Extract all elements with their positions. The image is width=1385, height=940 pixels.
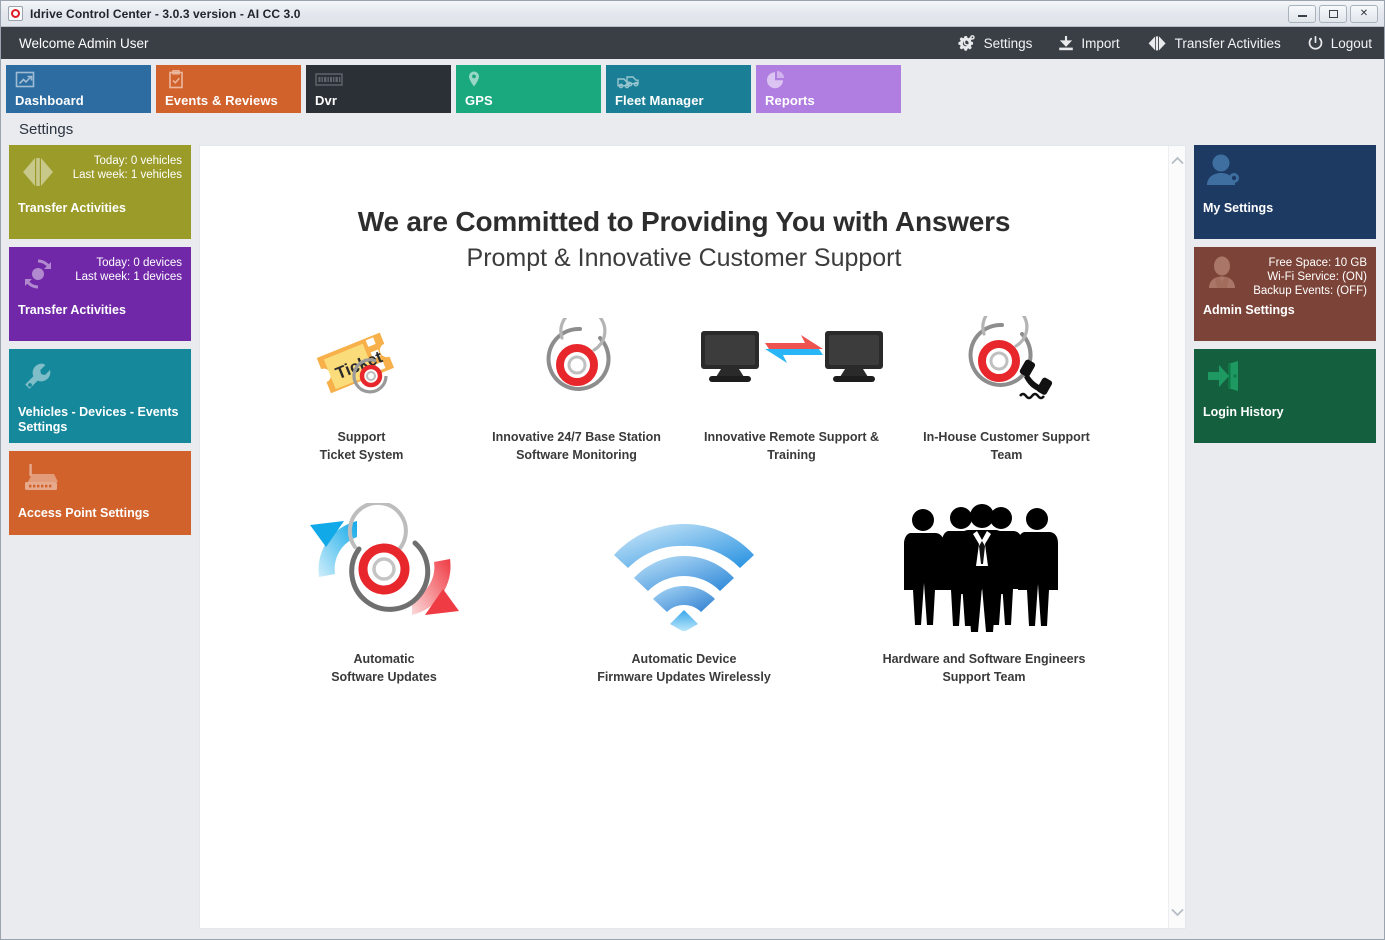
menu-item-import[interactable]: Import: [1058, 35, 1119, 52]
scroll-down-icon[interactable]: [1171, 904, 1184, 922]
menu-item-label: Logout: [1331, 36, 1372, 51]
tile-stats: Free Space: 10 GB Wi-Fi Service: (ON) Ba…: [1253, 254, 1367, 298]
feature-caption: In-House Customer Support Team: [923, 428, 1090, 464]
feature-in-house-support-team: In-House Customer Support Team: [899, 311, 1114, 464]
main-content: We are Committed to Providing You with A…: [200, 146, 1168, 928]
support-ticket-icon: Ticket: [309, 311, 414, 416]
tab-dvr[interactable]: Dvr: [306, 65, 451, 113]
window-controls: ✕: [1288, 5, 1380, 23]
minimize-button[interactable]: [1288, 5, 1316, 23]
features-row-1: Ticket Support Ticket System: [200, 311, 1168, 492]
feature-caption: Automatic Software Updates: [331, 650, 437, 686]
tab-label: Events & Reviews: [165, 93, 278, 108]
record-circle-icon: [8, 6, 23, 21]
welcome-text: Welcome Admin User: [19, 36, 149, 51]
stat-line: Free Space: 10 GB: [1253, 256, 1367, 270]
title-bar: Idrive Control Center - 3.0.3 version - …: [1, 1, 1384, 27]
feature-caption: Support Ticket System: [320, 428, 404, 464]
wifi-signal-icon: [604, 498, 764, 638]
tile-my-settings[interactable]: My Settings: [1194, 145, 1376, 239]
tile-transfer-activities-vehicles[interactable]: Today: 0 vehicles Last week: 1 vehicles …: [9, 145, 191, 239]
feature-caption: Innovative 24/7 Base Station Software Mo…: [492, 428, 661, 464]
top-menu: Settings Import: [957, 34, 1372, 52]
base-station-target-icon: [532, 311, 622, 416]
team-silhouette-icon: [889, 498, 1079, 638]
wrench-icon: [18, 356, 58, 401]
tab-reports[interactable]: Reports: [756, 65, 901, 113]
menu-item-label: Import: [1081, 36, 1119, 51]
tab-gps[interactable]: GPS: [456, 65, 601, 113]
tab-label: Reports: [765, 93, 815, 108]
clipboard-check-icon: [165, 70, 187, 95]
stat-line: Wi-Fi Service: (ON): [1253, 270, 1367, 284]
tab-dashboard[interactable]: Dashboard: [6, 65, 151, 113]
remote-monitors-icon: [697, 311, 887, 416]
content-vertical-scrollbar[interactable]: [1168, 146, 1185, 928]
tile-vehicles-devices-events-settings[interactable]: Vehicles - Devices - Events Settings: [9, 349, 191, 443]
feature-caption: Hardware and Software Engineers Support …: [883, 650, 1086, 686]
tile-title: Admin Settings: [1203, 303, 1367, 318]
tab-label: Dvr: [315, 93, 337, 108]
stat-line: Last week: 1 vehicles: [73, 168, 182, 182]
stat-line: Backup Events: (OFF): [1253, 284, 1367, 298]
tile-title: Login History: [1203, 405, 1367, 420]
tile-title: My Settings: [1203, 201, 1367, 216]
transfer-arrows-icon: [18, 152, 58, 197]
router-icon: [18, 458, 62, 501]
stat-line: Today: 0 vehicles: [73, 154, 182, 168]
support-phone-icon: [954, 311, 1059, 416]
tile-title: Transfer Activities: [18, 201, 182, 216]
page-headline: We are Committed to Providing You with A…: [200, 206, 1168, 238]
tile-title: Access Point Settings: [18, 506, 182, 521]
chart-arrow-icon: [15, 70, 37, 95]
features-row-2: Automatic Software Updates: [200, 498, 1168, 714]
gear-icon: [957, 34, 977, 52]
right-sidebar: My Settings Free Space: 10 GB Wi-Fi Serv…: [1194, 145, 1376, 929]
tab-events-reviews[interactable]: Events & Reviews: [156, 65, 301, 113]
nav-tab-bar: Dashboard Events & Reviews: [1, 59, 1384, 113]
feature-base-station-monitoring: Innovative 24/7 Base Station Software Mo…: [469, 311, 684, 464]
map-pin-icon: [465, 70, 483, 95]
feature-device-firmware-updates: Automatic Device Firmware Updates Wirele…: [534, 498, 834, 686]
feature-caption: Innovative Remote Support & Training: [704, 428, 879, 464]
auto-update-icon: [297, 498, 472, 638]
breadcrumb: Settings: [1, 113, 1384, 145]
window-title: Idrive Control Center - 3.0.3 version - …: [30, 7, 301, 21]
transfer-icon: [1146, 35, 1168, 52]
tile-login-history[interactable]: Login History: [1194, 349, 1376, 443]
feature-remote-support-training: Innovative Remote Support & Training: [684, 311, 899, 464]
breadcrumb-label: Settings: [19, 121, 73, 138]
tile-stats: Today: 0 vehicles Last week: 1 vehicles: [73, 152, 182, 182]
vehicles-icon: [615, 70, 641, 95]
login-arrow-icon: [1203, 356, 1243, 401]
tile-title: Vehicles - Devices - Events Settings: [18, 405, 182, 435]
app-window: Idrive Control Center - 3.0.3 version - …: [0, 0, 1385, 940]
tile-title: Transfer Activities: [18, 303, 182, 318]
device-sync-icon: [18, 254, 58, 299]
tab-label: Fleet Manager: [615, 93, 704, 108]
feature-support-ticket-system: Ticket Support Ticket System: [254, 311, 469, 464]
body-region: Today: 0 vehicles Last week: 1 vehicles …: [1, 145, 1384, 939]
feature-caption: Automatic Device Firmware Updates Wirele…: [597, 650, 771, 686]
power-icon: [1307, 35, 1324, 52]
tab-label: GPS: [465, 93, 493, 108]
user-gear-icon: [1203, 152, 1245, 197]
menu-item-settings[interactable]: Settings: [957, 34, 1033, 52]
menu-item-label: Settings: [984, 36, 1033, 51]
tile-stats: Today: 0 devices Last week: 1 devices: [75, 254, 182, 284]
menu-item-logout[interactable]: Logout: [1307, 35, 1372, 52]
tab-fleet-manager[interactable]: Fleet Manager: [606, 65, 751, 113]
download-icon: [1058, 35, 1074, 52]
feature-automatic-software-updates: Automatic Software Updates: [234, 498, 534, 686]
dvr-screen-icon: [315, 70, 343, 95]
pie-chart-icon: [765, 70, 787, 95]
menu-item-label: Transfer Activities: [1175, 36, 1281, 51]
scroll-up-icon[interactable]: [1171, 152, 1184, 170]
tile-transfer-activities-devices[interactable]: Today: 0 devices Last week: 1 devices Tr…: [9, 247, 191, 341]
page-subheadline: Prompt & Innovative Customer Support: [200, 244, 1168, 273]
welcome-bar: Welcome Admin User Settings: [1, 27, 1384, 59]
close-button[interactable]: ✕: [1350, 5, 1378, 23]
left-sidebar: Today: 0 vehicles Last week: 1 vehicles …: [9, 145, 191, 929]
main-content-panel: We are Committed to Providing You with A…: [199, 145, 1186, 929]
admin-user-icon: [1203, 254, 1241, 299]
menu-item-transfer-activities[interactable]: Transfer Activities: [1146, 35, 1281, 52]
tile-access-point-settings[interactable]: Access Point Settings: [9, 451, 191, 535]
stat-line: Today: 0 devices: [75, 256, 182, 270]
tab-label: Dashboard: [15, 93, 84, 108]
stat-line: Last week: 1 devices: [75, 270, 182, 284]
maximize-button[interactable]: [1319, 5, 1347, 23]
feature-engineers-support-team: Hardware and Software Engineers Support …: [834, 498, 1134, 686]
tile-admin-settings[interactable]: Free Space: 10 GB Wi-Fi Service: (ON) Ba…: [1194, 247, 1376, 341]
